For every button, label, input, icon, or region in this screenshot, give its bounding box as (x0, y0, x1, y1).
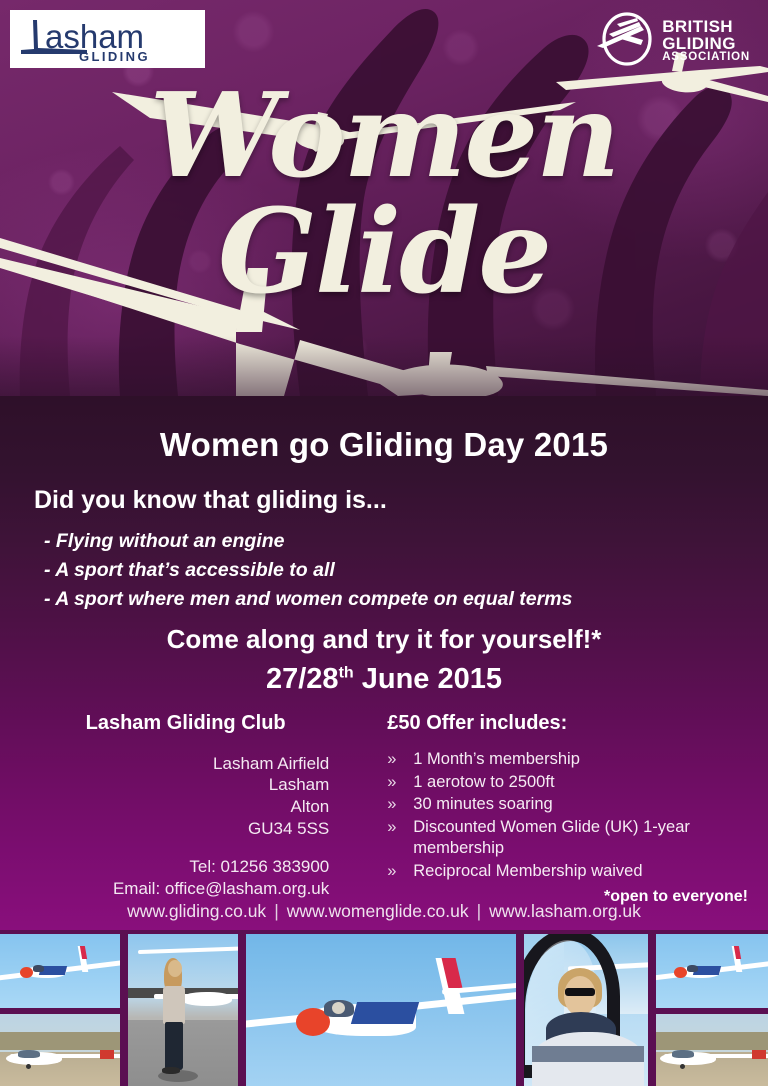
photo-glider-on-ground-right-bottom (656, 1014, 768, 1086)
address-line: Lasham (269, 775, 329, 794)
link-gliding[interactable]: www.gliding.co.uk (127, 901, 266, 921)
photo-glider-in-flight-left-top (0, 934, 120, 1008)
offer-item-label: 1 Month’s membership (413, 749, 754, 770)
guillemet-bullet-icon: » (383, 794, 413, 815)
call-to-action: Come along and try it for yourself!* (0, 614, 768, 655)
photo-woman-at-airfield (128, 934, 238, 1086)
photo-glider-in-flight-right-top (656, 934, 768, 1008)
poster: asham GLIDING BRITISH GLIDING ASSOCIATIO… (0, 0, 768, 1086)
bga-line1: BRITISH (662, 18, 750, 35)
address-line: Alton (291, 797, 330, 816)
gliding-facts-list: - Flying without an engine - A sport tha… (0, 515, 768, 614)
event-date-ordinal: th (339, 664, 354, 681)
link-lasham[interactable]: www.lasham.org.uk (489, 901, 641, 921)
lasham-logo-icon: asham GLIDING (17, 14, 199, 64)
list-item: - A sport where men and women compete on… (44, 585, 768, 614)
details-columns: Lasham Gliding Club Lasham Airfield Lash… (0, 696, 768, 907)
offer-items-list: » 1 Month’s membership » 1 aerotow to 25… (383, 735, 754, 883)
address-line: Lasham Airfield (213, 754, 329, 773)
guillemet-bullet-icon: » (383, 861, 413, 882)
offer-title: £50 Offer includes: (383, 712, 754, 735)
list-item: » Discounted Women Glide (UK) 1-year mem… (383, 817, 754, 859)
offer-item-label: 30 minutes soaring (413, 794, 754, 815)
club-telephone: Tel: 01256 383900 (189, 857, 329, 876)
event-date-days: 27/28 (266, 663, 339, 695)
guillemet-bullet-icon: » (383, 772, 413, 793)
website-links: www.gliding.co.uk|www.womenglide.co.uk|w… (0, 901, 768, 922)
guillemet-bullet-icon: » (383, 749, 413, 770)
list-item: - Flying without an engine (44, 527, 768, 556)
list-item: » 1 aerotow to 2500ft (383, 772, 754, 793)
bga-logo: BRITISH GLIDING ASSOCIATION (597, 10, 750, 72)
bga-logo-text: BRITISH GLIDING ASSOCIATION (662, 18, 750, 64)
club-name: Lasham Gliding Club (14, 712, 357, 735)
link-separator: | (469, 901, 490, 921)
photo-glider-in-flight-centre (246, 934, 516, 1086)
offer-item-label: Reciprocal Membership waived (413, 861, 754, 882)
list-item: » 1 Month’s membership (383, 749, 754, 770)
subheading: Did you know that gliding is... (0, 464, 768, 515)
content-panel: Women go Gliding Day 2015 Did you know t… (0, 396, 768, 930)
list-item: - A sport that’s accessible to all (44, 556, 768, 585)
list-item: » Reciprocal Membership waived (383, 861, 754, 882)
offer-column: £50 Offer includes: » 1 Month’s membersh… (377, 712, 754, 907)
club-details-column: Lasham Gliding Club Lasham Airfield Lash… (14, 712, 377, 907)
event-date: 27/28th June 2015 (0, 655, 768, 696)
list-item: » 30 minutes soaring (383, 794, 754, 815)
hero-bottom-fade (0, 336, 768, 396)
lasham-logo: asham GLIDING (10, 10, 205, 68)
link-separator: | (266, 901, 287, 921)
club-contact: Tel: 01256 383900 Email: office@lasham.o… (14, 840, 357, 902)
photo-glider-on-ground-left-bottom (0, 1014, 120, 1086)
offer-item-label: 1 aerotow to 2500ft (413, 772, 754, 793)
svg-text:GLIDING: GLIDING (79, 49, 150, 64)
event-date-rest: June 2015 (354, 663, 502, 695)
photo-strip (0, 930, 768, 1086)
bga-line3: ASSOCIATION (662, 52, 750, 64)
link-womenglide[interactable]: www.womenglide.co.uk (287, 901, 469, 921)
offer-item-label: Discounted Women Glide (UK) 1-year membe… (413, 817, 754, 859)
club-email[interactable]: Email: office@lasham.org.uk (113, 879, 329, 898)
bga-line2: GLIDING (662, 35, 750, 52)
bga-roundel-icon (597, 12, 653, 70)
guillemet-bullet-icon: » (383, 817, 413, 838)
address-line: GU34 5SS (248, 819, 329, 838)
photo-pilot-in-cockpit (524, 934, 648, 1086)
page-title: Women go Gliding Day 2015 (0, 396, 768, 464)
club-address: Lasham Airfield Lasham Alton GU34 5SS (14, 735, 357, 840)
hero-banner: asham GLIDING BRITISH GLIDING ASSOCIATIO… (0, 0, 768, 396)
